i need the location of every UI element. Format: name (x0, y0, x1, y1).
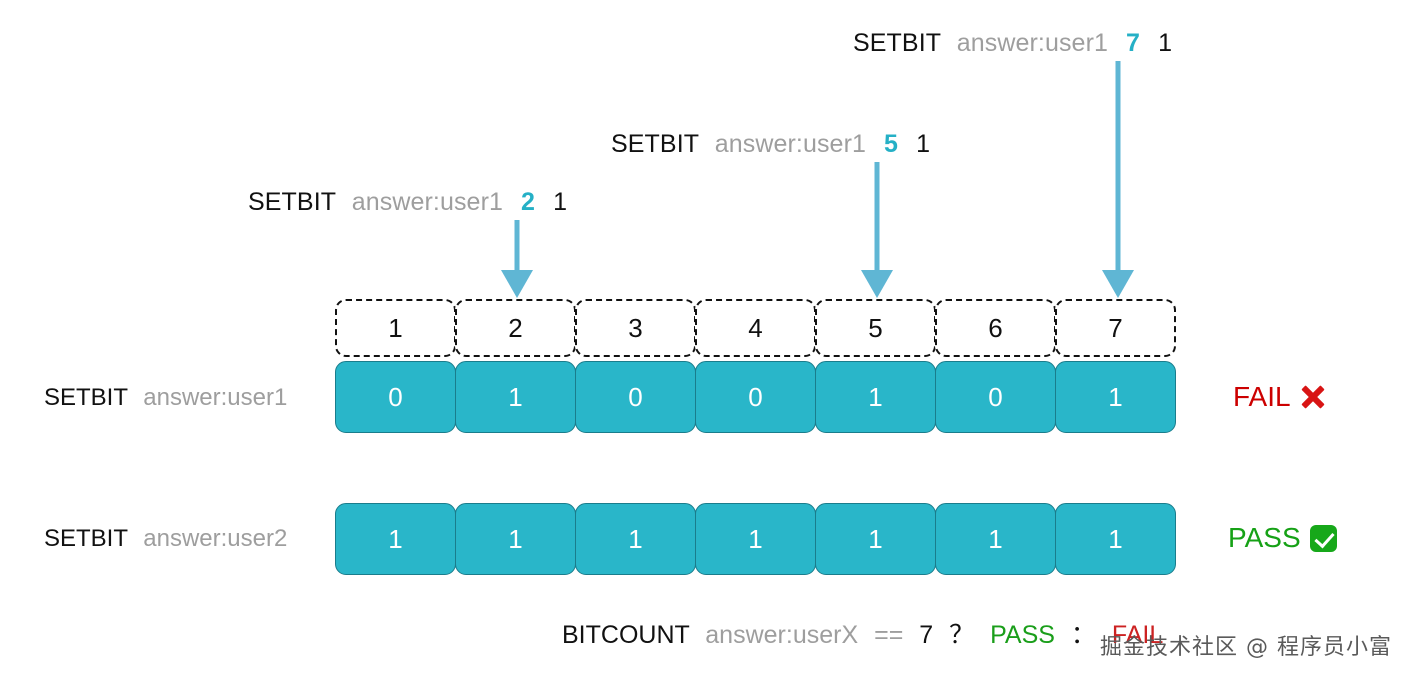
bit-cell: 1 (935, 503, 1056, 575)
bitcount-target: 7 (919, 621, 933, 649)
bit-offset-cell: 4 (695, 299, 816, 357)
setbit-callout-2-key: answer:user1 (352, 188, 503, 216)
bit-offset-cell: 5 (815, 299, 936, 357)
bitmap-row-user1: 0 1 0 0 1 0 1 (335, 361, 1175, 433)
setbit-callout-7-command: SETBIT (853, 29, 941, 57)
status-badge-user2-label: PASS (1228, 524, 1301, 552)
diagram-canvas: SETBIT answer:user1 2 1 SETBIT answer:us… (0, 0, 1424, 682)
status-badge-user2: PASS (1228, 524, 1337, 552)
arrow-to-offset-7 (1094, 59, 1142, 300)
bit-offset-header-row: 1 2 3 4 5 6 7 (335, 299, 1175, 357)
setbit-callout-5-offset: 5 (882, 130, 900, 158)
arrow-to-offset-2 (493, 218, 541, 300)
row-label-user2-command: SETBIT (44, 525, 128, 552)
watermark: 掘金技术社区 @ 程序员小富 (1100, 637, 1392, 659)
bit-cell: 1 (335, 503, 456, 575)
status-badge-user1: FAIL (1233, 383, 1326, 411)
setbit-callout-5-key: answer:user1 (715, 130, 866, 158)
bit-cell: 1 (815, 361, 936, 433)
bit-cell: 0 (695, 361, 816, 433)
bit-cell: 1 (1055, 361, 1176, 433)
bitmap-row-user2: 1 1 1 1 1 1 1 (335, 503, 1175, 575)
bit-cell: 1 (815, 503, 936, 575)
arrow-to-offset-5 (853, 160, 901, 300)
bit-cell: 1 (455, 361, 576, 433)
bit-offset-cell: 1 (335, 299, 456, 357)
setbit-callout-2-command: SETBIT (248, 188, 336, 216)
row-label-user1-command: SETBIT (44, 384, 128, 411)
setbit-callout-offset-2: SETBIT answer:user1 2 1 (248, 190, 567, 215)
row-label-user1-key: answer:user1 (143, 384, 287, 411)
bit-cell: 1 (575, 503, 696, 575)
cross-mark-icon (1300, 384, 1326, 410)
setbit-callout-2-offset: 2 (519, 188, 537, 216)
bit-cell: 1 (1055, 503, 1176, 575)
bit-offset-cell: 7 (1055, 299, 1176, 357)
setbit-callout-offset-5: SETBIT answer:user1 5 1 (611, 132, 930, 157)
setbit-callout-7-bit: 1 (1158, 29, 1172, 57)
setbit-callout-offset-7: SETBIT answer:user1 7 1 (853, 31, 1172, 56)
bitcount-command: BITCOUNT (562, 621, 689, 649)
row-label-user2-key: answer:user2 (143, 525, 287, 552)
status-badge-user1-label: FAIL (1233, 383, 1291, 411)
bit-offset-cell: 3 (575, 299, 696, 357)
bitcount-question: ？ (949, 621, 974, 649)
setbit-callout-7-key: answer:user1 (957, 29, 1108, 57)
bitcount-operator: == (874, 621, 903, 649)
bitcount-true-branch: PASS (990, 621, 1055, 649)
bitcount-expression: BITCOUNT answer:userX == 7 ？ PASS ： FAIL (562, 623, 1163, 648)
row-label-user1: SETBIT answer:user1 (44, 386, 287, 410)
row-label-user2: SETBIT answer:user2 (44, 527, 287, 551)
bit-cell: 0 (935, 361, 1056, 433)
setbit-callout-7-offset: 7 (1124, 29, 1142, 57)
bit-cell: 0 (575, 361, 696, 433)
bitcount-key: answer:userX (705, 621, 858, 649)
bit-cell: 1 (455, 503, 576, 575)
bit-cell: 1 (695, 503, 816, 575)
setbit-callout-2-bit: 1 (553, 188, 567, 216)
bitcount-separator: ： (1071, 621, 1096, 649)
setbit-callout-5-bit: 1 (916, 130, 930, 158)
bit-offset-cell: 6 (935, 299, 1056, 357)
bit-cell: 0 (335, 361, 456, 433)
setbit-callout-5-command: SETBIT (611, 130, 699, 158)
check-mark-icon (1310, 525, 1337, 552)
bit-offset-cell: 2 (455, 299, 576, 357)
